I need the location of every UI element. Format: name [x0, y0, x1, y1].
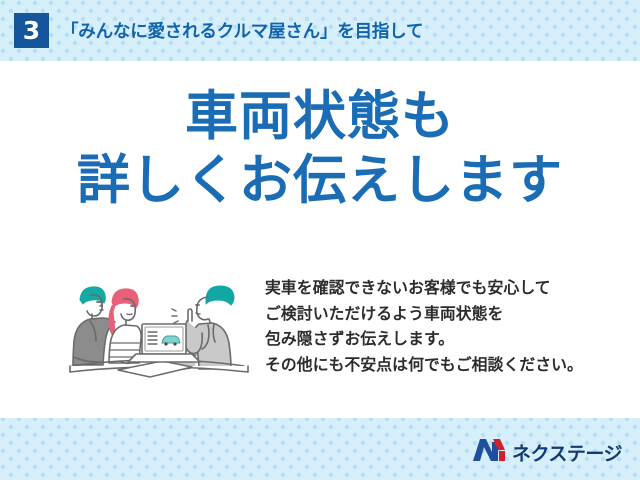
banner-header: 3 「みんなに愛されるクルマ屋さん」を目指して	[0, 0, 640, 61]
headline: 車両状態も 詳しくお伝えします	[0, 87, 640, 212]
content-panel: 車両状態も 詳しくお伝えします	[0, 61, 640, 418]
detail-row: 実車を確認できないお客様でも安心して ご検討いただけるよう車両状態を 包み隠さず…	[0, 269, 640, 399]
body-copy-line: その他にも不安点は何でもご相談ください。	[265, 352, 583, 378]
body-copy: 実車を確認できないお客様でも安心して ご検討いただけるよう車両状態を 包み隠さず…	[265, 269, 583, 377]
banner-footer: ネクステージ	[0, 418, 640, 480]
headline-line-1: 車両状態も	[0, 87, 640, 147]
header-title: 「みんなに愛されるクルマ屋さん」を目指して	[61, 18, 423, 43]
nextage-n-mark-icon	[472, 438, 506, 466]
headline-line-2: 詳しくお伝えします	[0, 151, 640, 211]
body-copy-line: ご検討いただけるよう車両状態を	[265, 301, 583, 327]
step-number-badge: 3	[14, 13, 49, 48]
body-copy-line: 包み隠さずお伝えします。	[265, 326, 583, 352]
nextage-logo-text: ネクステージ	[512, 439, 622, 466]
body-copy-line: 実車を確認できないお客様でも安心して	[265, 275, 583, 301]
promo-banner: 3 「みんなに愛されるクルマ屋さん」を目指して 車両状態も 詳しくお伝えします	[0, 0, 640, 480]
nextage-logo: ネクステージ	[472, 438, 622, 466]
sales-consultation-illustration	[56, 269, 261, 391]
